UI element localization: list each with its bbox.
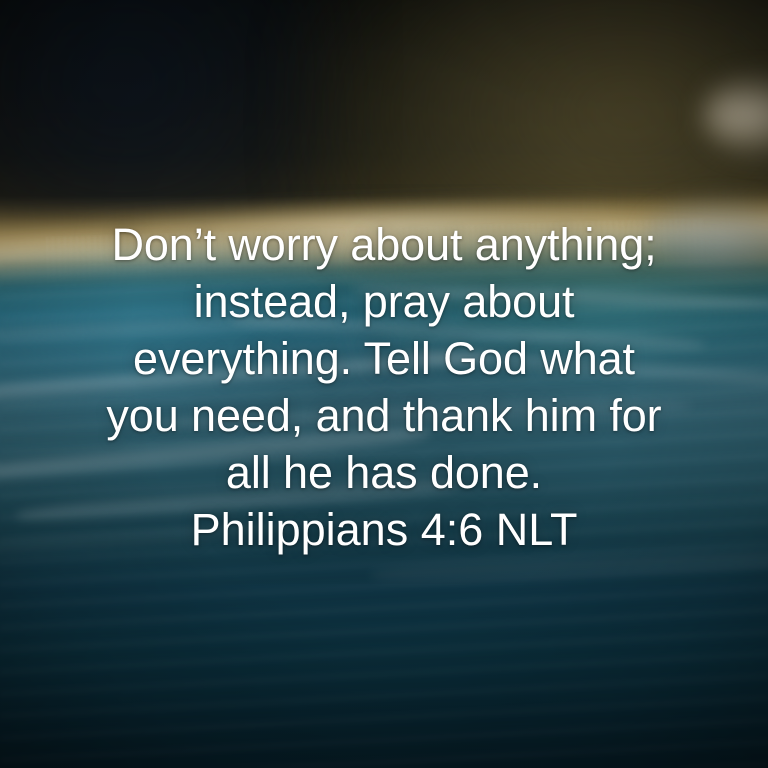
quote-image-canvas: Don’t worry about anything; instead, pra…: [0, 0, 768, 768]
scripture-quote-block: Don’t worry about anything; instead, pra…: [0, 216, 768, 558]
quote-line-5: all he has done.: [40, 444, 728, 501]
scripture-reference: Philippians 4:6 NLT: [40, 501, 728, 558]
quote-line-2: instead, pray about: [40, 273, 728, 330]
quote-line-1: Don’t worry about anything;: [40, 216, 728, 273]
quote-line-3: everything. Tell God what: [40, 330, 728, 387]
quote-line-4: you need, and thank him for: [40, 387, 728, 444]
